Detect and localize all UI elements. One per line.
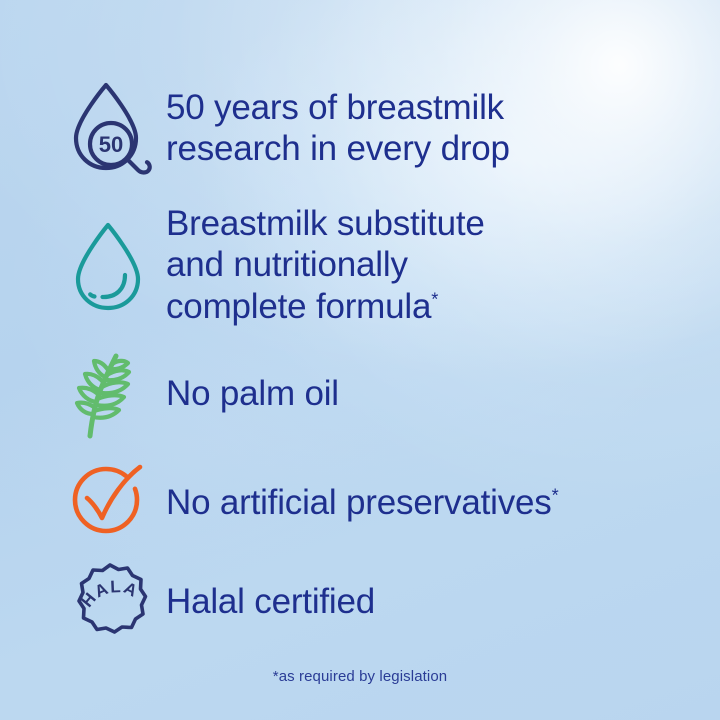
benefit-asterisk: * bbox=[431, 289, 438, 309]
icon-cell bbox=[68, 348, 166, 440]
droplet-magnifier-50-icon: 50 bbox=[68, 78, 154, 178]
icon-cell: 50 bbox=[68, 78, 166, 178]
icon-cell bbox=[68, 462, 166, 544]
icon-cell bbox=[68, 217, 166, 313]
leaf-frond-icon bbox=[68, 348, 152, 440]
benefits-list: 50 50 years of breastmilk research in ev… bbox=[0, 0, 720, 720]
benefit-label: 50 years of breastmilk research in every… bbox=[166, 88, 510, 168]
benefit-text: Halal certified bbox=[166, 581, 375, 622]
benefit-row-research: 50 50 years of breastmilk research in ev… bbox=[68, 76, 510, 180]
icon-cell: HALAL bbox=[68, 560, 166, 644]
teal-droplet-icon bbox=[68, 217, 148, 313]
benefit-text: No artificial preservatives* bbox=[166, 482, 558, 523]
benefit-text: No palm oil bbox=[166, 373, 339, 414]
benefit-row-preservatives: No artificial preservatives* bbox=[68, 458, 558, 548]
footnote: *as required by legislation bbox=[0, 668, 720, 685]
benefit-row-substitute: Breastmilk substitute and nutritionally … bbox=[68, 204, 485, 326]
benefit-row-halal: HALAL Halal certified bbox=[68, 556, 375, 648]
benefit-text: 50 years of breastmilk research in every… bbox=[166, 87, 510, 170]
benefit-asterisk: * bbox=[552, 486, 559, 506]
benefits-poster: 50 50 years of breastmilk research in ev… bbox=[0, 0, 720, 720]
benefit-label: Halal certified bbox=[166, 582, 375, 621]
benefit-row-palm-oil: No palm oil bbox=[68, 348, 339, 440]
benefit-label: No palm oil bbox=[166, 374, 339, 413]
benefit-label: No artificial preservatives bbox=[166, 483, 552, 522]
droplet-badge-number: 50 bbox=[99, 132, 123, 157]
halal-badge-icon: HALAL bbox=[68, 560, 152, 644]
benefit-text: Breastmilk substitute and nutritionally … bbox=[166, 203, 485, 327]
check-circle-icon bbox=[68, 462, 150, 544]
